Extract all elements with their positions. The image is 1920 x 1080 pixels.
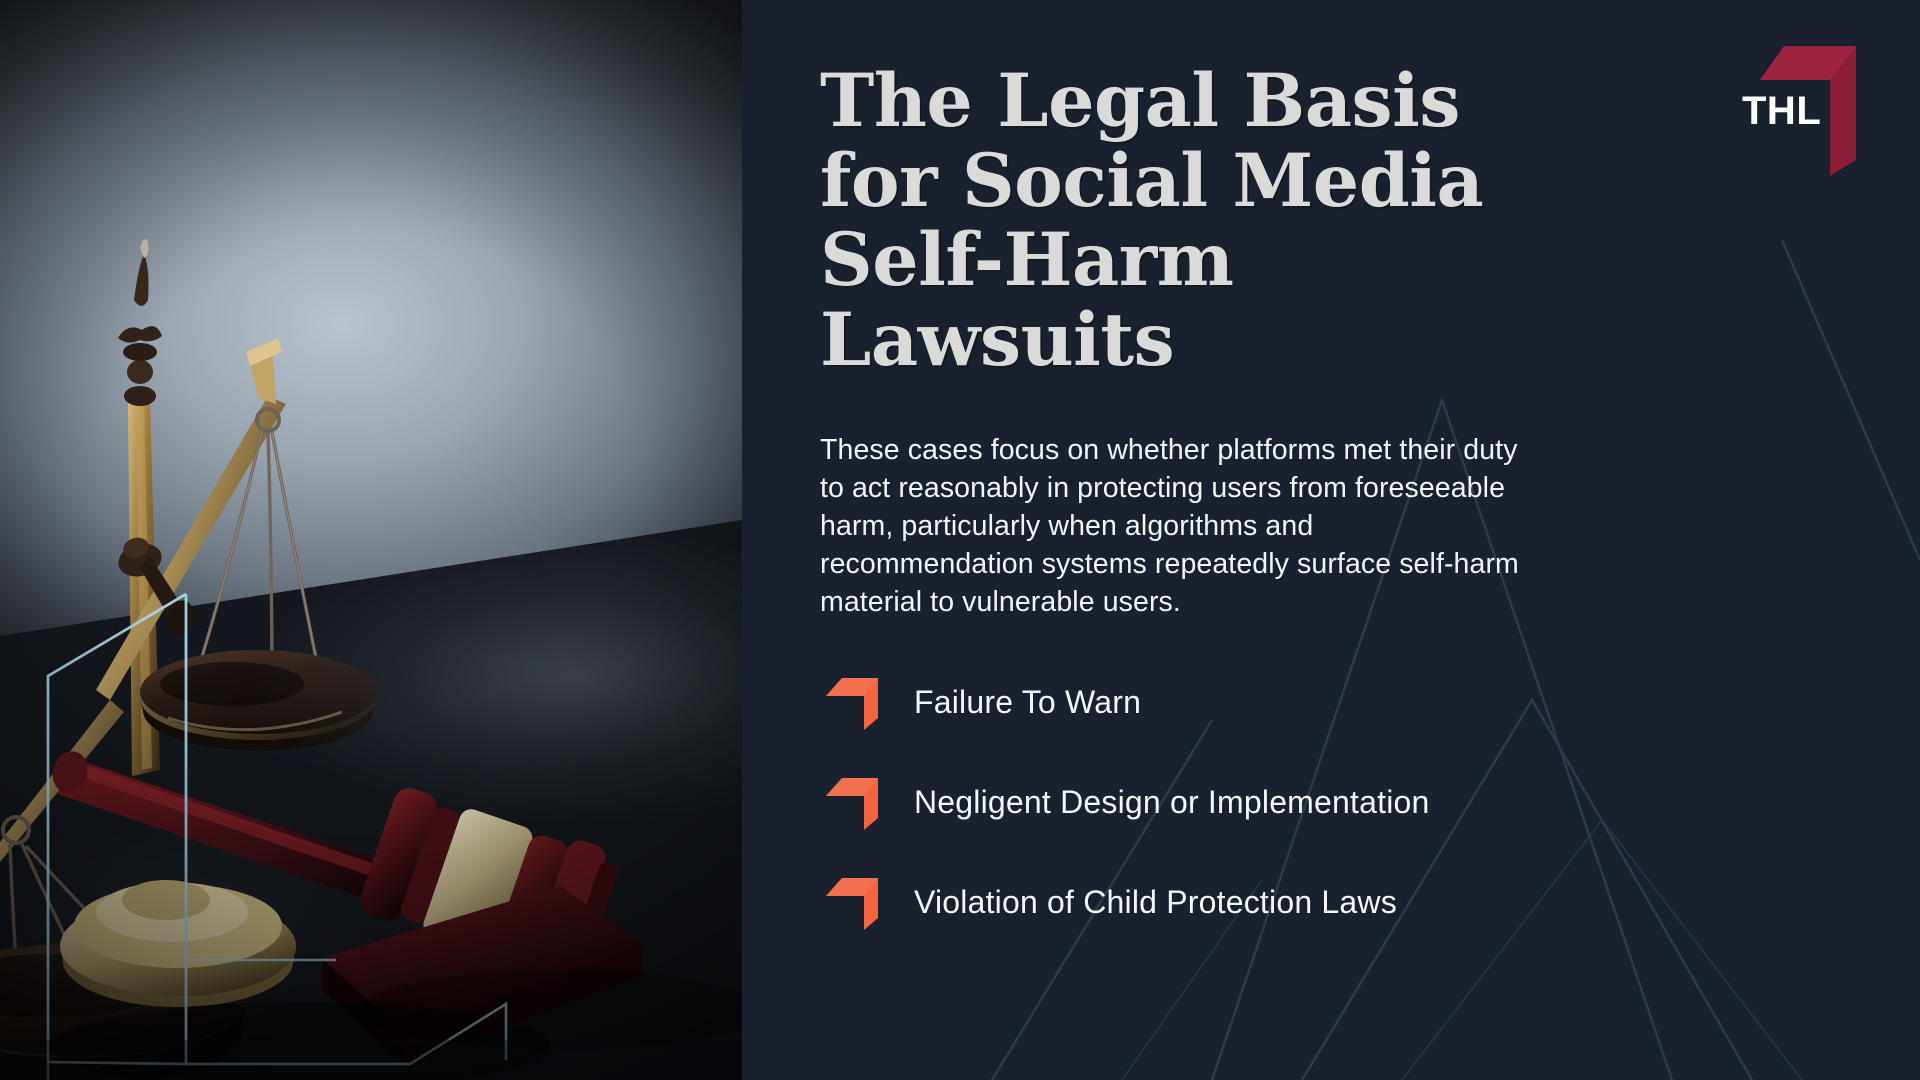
page-title: The Legal Basis for Social Media Self-Ha… (820, 62, 1620, 380)
body-line-3: harm, particularly when algorithms and (820, 508, 1830, 546)
body-line-1: These cases focus on whether platforms m… (820, 432, 1830, 470)
corner-arrow-icon (826, 674, 884, 730)
headline-line-4: Lawsuits (820, 297, 1174, 383)
claims-list: Failure To Warn Negligent Design or Impl… (826, 674, 1920, 930)
list-item: Negligent Design or Implementation (826, 774, 1920, 830)
list-item: Failure To Warn (826, 674, 1920, 730)
body-line-2: to act reasonably in protecting users fr… (820, 470, 1830, 508)
list-item-label: Failure To Warn (914, 686, 1141, 718)
slide-canvas: THL The Legal Basis for Social Media Sel… (0, 0, 1920, 1080)
justice-photo (0, 0, 742, 1080)
body-line-4: recommendation systems repeatedly surfac… (820, 546, 1830, 584)
content-panel: THL The Legal Basis for Social Media Sel… (742, 0, 1920, 1080)
headline-line-3: Self-Harm (820, 217, 1233, 303)
corner-arrow-icon (826, 774, 884, 830)
list-item: Violation of Child Protection Laws (826, 874, 1920, 930)
headline-line-2: for Social Media (820, 138, 1483, 224)
headline-line-1: The Legal Basis (820, 58, 1460, 144)
corner-arrow-icon (826, 874, 884, 930)
body-paragraph: These cases focus on whether platforms m… (820, 432, 1830, 621)
photo-vignette (0, 0, 742, 1080)
list-item-label: Negligent Design or Implementation (914, 786, 1430, 818)
list-item-label: Violation of Child Protection Laws (914, 886, 1397, 918)
body-line-5: material to vulnerable users. (820, 584, 1830, 622)
